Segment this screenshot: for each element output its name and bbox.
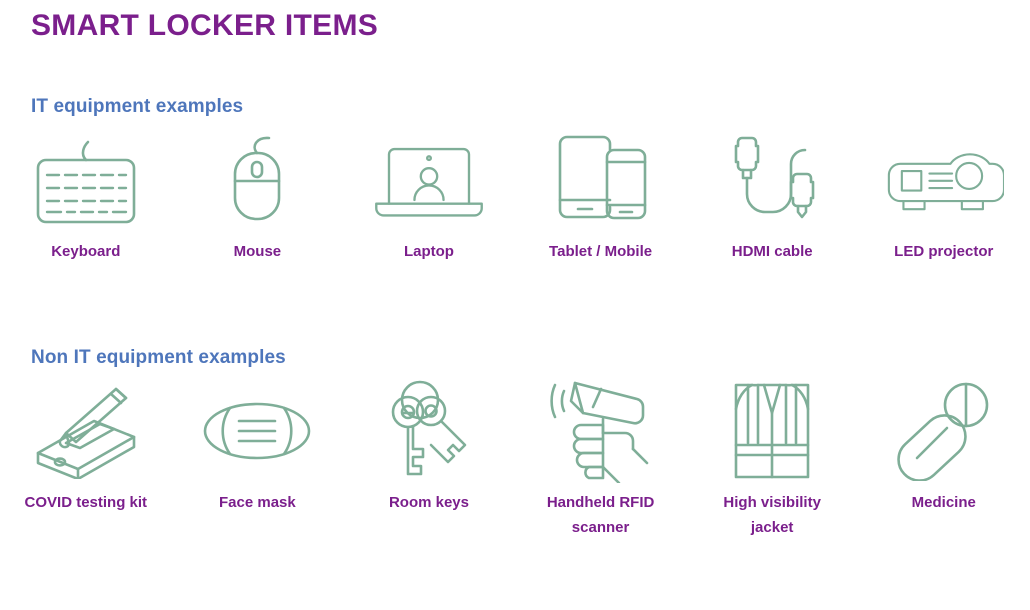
item-led-projector[interactable]: LED projector — [858, 132, 1030, 265]
item-hdmi-cable[interactable]: HDMI cable — [686, 132, 858, 265]
section-heading-non-it: Non IT equipment examples — [31, 347, 286, 369]
item-face-mask[interactable]: Face mask — [172, 383, 344, 516]
item-medicine[interactable]: Medicine — [858, 383, 1030, 516]
item-label: Tablet / Mobile — [549, 240, 652, 265]
item-label: Mouse — [234, 240, 282, 265]
item-tablet-mobile[interactable]: Tablet / Mobile — [515, 132, 687, 265]
item-label: Laptop — [404, 240, 454, 265]
item-handheld-rfid-scanner[interactable]: Handheld RFID scanner — [515, 383, 687, 541]
item-label: Medicine — [912, 491, 976, 516]
item-room-keys[interactable]: Room keys — [343, 383, 515, 516]
item-label: HDMI cable — [732, 240, 813, 265]
handheld-rfid-scanner-icon — [541, 383, 661, 479]
item-label: High visibility jacket — [707, 491, 837, 541]
item-label: COVID testing kit — [25, 491, 148, 516]
laptop-icon — [369, 132, 489, 228]
keyboard-icon — [26, 132, 146, 228]
item-label: Room keys — [389, 491, 469, 516]
item-laptop[interactable]: Laptop — [343, 132, 515, 265]
hdmi-cable-icon — [712, 132, 832, 228]
smart-locker-items-page: SMART LOCKER ITEMS IT equipment examples — [0, 0, 1030, 610]
page-title: SMART LOCKER ITEMS — [31, 8, 378, 44]
room-keys-icon — [369, 383, 489, 479]
item-label: LED projector — [894, 240, 993, 265]
item-high-visibility-jacket[interactable]: High visibility jacket — [686, 383, 858, 541]
led-projector-icon — [884, 132, 1004, 228]
tablet-mobile-icon — [541, 132, 661, 228]
icon-grid-it: Keyboard Mouse — [0, 132, 1030, 265]
item-label: Handheld RFID scanner — [536, 491, 666, 541]
section-heading-it: IT equipment examples — [31, 96, 243, 118]
icon-grid-non-it: COVID testing kit Face mask — [0, 383, 1030, 541]
medicine-icon — [884, 383, 1004, 479]
mouse-icon — [197, 132, 317, 228]
item-mouse[interactable]: Mouse — [172, 132, 344, 265]
item-label: Keyboard — [51, 240, 120, 265]
high-visibility-jacket-icon — [712, 383, 832, 479]
item-covid-testing-kit[interactable]: COVID testing kit — [0, 383, 172, 516]
face-mask-icon — [197, 383, 317, 479]
covid-testing-kit-icon — [26, 383, 146, 479]
item-label: Face mask — [219, 491, 296, 516]
item-keyboard[interactable]: Keyboard — [0, 132, 172, 265]
